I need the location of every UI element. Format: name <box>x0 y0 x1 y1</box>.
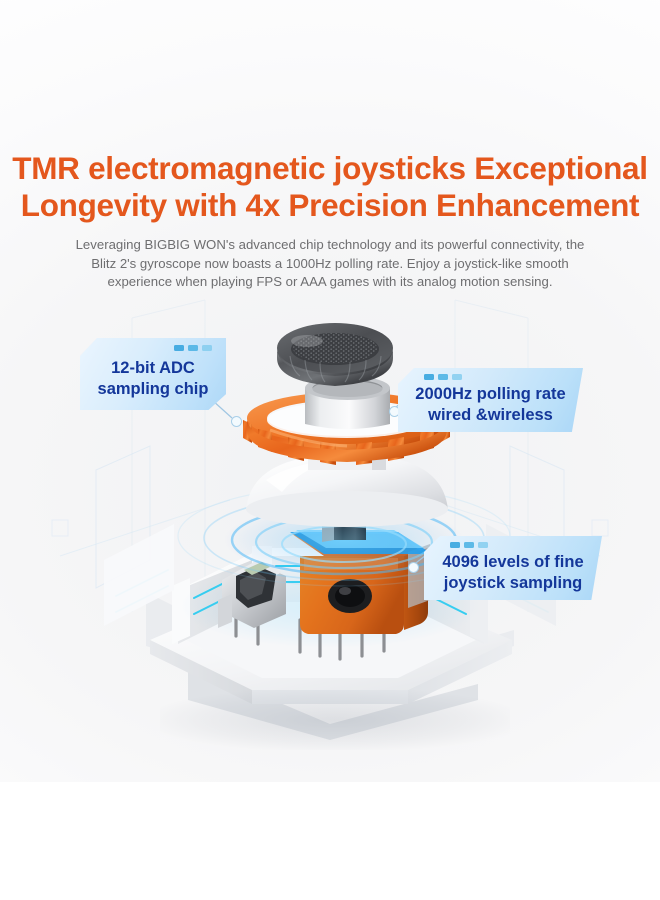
callout-polling-rate-label: 2000Hz polling rate wired &wireless <box>415 384 565 426</box>
connector-dot-sampling <box>408 562 419 573</box>
callout-polling-rate[interactable]: 2000Hz polling rate wired &wireless <box>398 368 583 432</box>
thumbstick-cap <box>277 323 393 386</box>
callout-joystick-sampling[interactable]: 4096 levels of fine joystick sampling <box>424 536 602 600</box>
page-title: TMR electromagnetic joysticks Exceptiona… <box>0 150 660 224</box>
ground-shadow <box>160 690 510 750</box>
callout-adc-chip[interactable]: 12-bit ADC sampling chip <box>80 338 226 410</box>
content-stage: TMR electromagnetic joysticks Exceptiona… <box>0 0 660 782</box>
page-subtitle: Leveraging BIGBIG WON's advanced chip te… <box>0 236 660 292</box>
callout-joystick-sampling-label: 4096 levels of fine joystick sampling <box>442 552 583 594</box>
product-feature-graphic: TMR electromagnetic joysticks Exceptiona… <box>0 0 660 900</box>
callout-adc-chip-label: 12-bit ADC sampling chip <box>98 358 209 400</box>
connector-dot-adc <box>231 416 242 427</box>
heading-block: TMR electromagnetic joysticks Exceptiona… <box>0 150 660 292</box>
dash-marks-icon <box>174 345 212 351</box>
dash-marks-icon <box>424 374 462 380</box>
dash-marks-icon <box>450 542 488 548</box>
